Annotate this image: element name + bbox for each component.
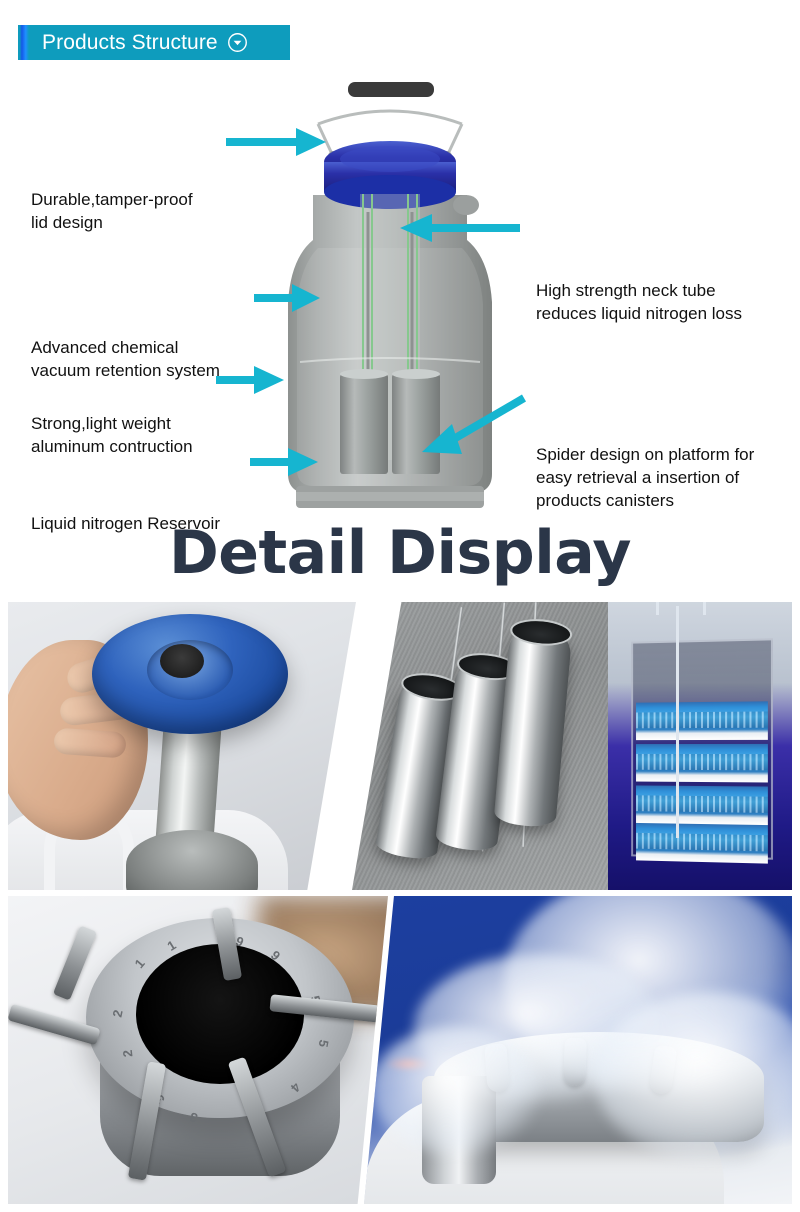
photo-blue-lid-neck-tube[interactable] [8, 602, 356, 890]
product-infographic-page: Products Structure [0, 0, 800, 1212]
product-structure-diagram: Durable,tamper-proof lid design High str… [0, 62, 800, 510]
annotation-spider-design: Spider design on platform for easy retri… [536, 443, 754, 512]
header-accent-bar [18, 25, 29, 60]
finger [53, 728, 127, 759]
annotation-lid: Durable,tamper-proof lid design [31, 188, 193, 234]
canister-opening [509, 617, 573, 648]
cryo-rack [631, 638, 773, 859]
section-header-title: Products Structure [42, 31, 218, 55]
photo-cryo-rack[interactable] [608, 602, 792, 890]
annotation-aluminum-construction: Strong,light weight aluminum contruction [31, 412, 193, 458]
cryo-box [636, 823, 768, 864]
canister [493, 624, 572, 829]
lid-center-hole [160, 644, 204, 678]
chevron-down-circle-icon[interactable] [227, 32, 248, 53]
annotation-vacuum-retention: Advanced chemical vacuum retention syste… [31, 336, 220, 382]
rack-handle [676, 606, 679, 838]
cryo-box [636, 744, 768, 783]
section-header-products-structure[interactable]: Products Structure [18, 25, 290, 60]
vapor-cloud [370, 1026, 540, 1156]
neck-base-ring [126, 830, 258, 890]
photo-nitrogen-vapor[interactable] [364, 896, 792, 1204]
cryo-box [636, 785, 768, 825]
detail-photo-row-top [8, 602, 792, 890]
photo-spider-platform[interactable]: 1 1 2 2 3 3 4 4 5 5 9 9 [8, 896, 388, 1204]
photo-stainless-canisters[interactable] [352, 602, 612, 890]
annotation-neck-tube: High strength neck tube reduces liquid n… [536, 279, 742, 325]
cryo-box [636, 701, 768, 740]
detail-photo-row-bottom: 1 1 2 2 3 3 4 4 5 5 9 9 [8, 896, 792, 1204]
detail-display-title: Detail Display [0, 518, 800, 588]
